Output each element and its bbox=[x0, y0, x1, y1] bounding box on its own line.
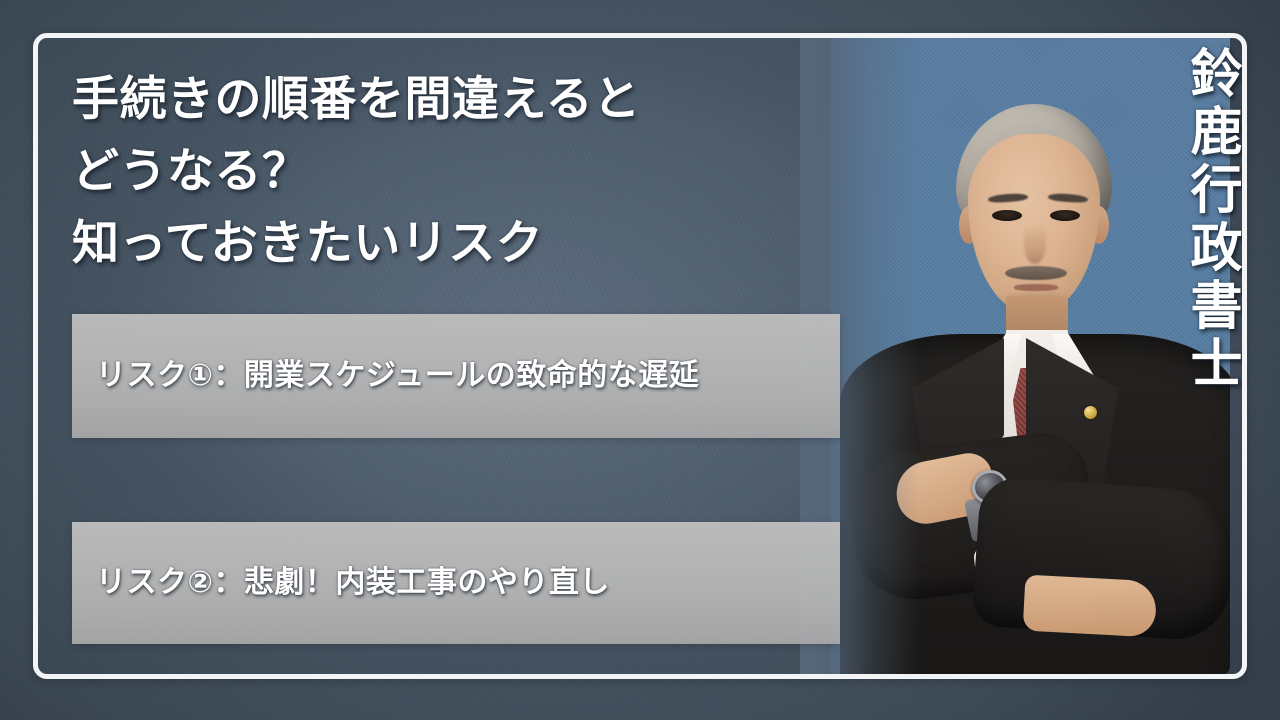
portrait-clip bbox=[800, 38, 1236, 678]
title-line-2: どうなる？ bbox=[72, 136, 792, 208]
title-line-1: 手続きの順番を間違えると bbox=[72, 64, 792, 136]
presenter-name-vertical: 鈴鹿行政書士 bbox=[1180, 46, 1242, 394]
portrait-mustache bbox=[1005, 266, 1067, 280]
presenter-portrait bbox=[800, 38, 1236, 678]
presentation-slide: 手続きの順番を間違えると どうなる？ 知っておきたいリスク リスク①：開業スケジ… bbox=[0, 0, 1280, 720]
portrait-hand-right bbox=[1023, 575, 1158, 638]
slide-title: 手続きの順番を間違えると どうなる？ 知っておきたいリスク bbox=[72, 64, 792, 280]
risk-callout-1-label: リスク①：開業スケジュールの致命的な遅延 bbox=[72, 354, 723, 398]
risk-callout-2-label: リスク②：悲劇！内装工事のやり直し bbox=[72, 561, 634, 605]
risk-callout-1: リスク①：開業スケジュールの致命的な遅延 bbox=[72, 314, 840, 438]
portrait-lapel-pin bbox=[1084, 406, 1097, 419]
risk-callout-2: リスク②：悲劇！内装工事のやり直し bbox=[72, 522, 840, 644]
portrait-eye-right bbox=[1050, 210, 1080, 221]
portrait-eye-left bbox=[992, 210, 1022, 221]
portrait-mouth bbox=[1014, 284, 1058, 291]
title-line-3: 知っておきたいリスク bbox=[72, 208, 792, 280]
portrait-nose bbox=[1024, 224, 1046, 264]
